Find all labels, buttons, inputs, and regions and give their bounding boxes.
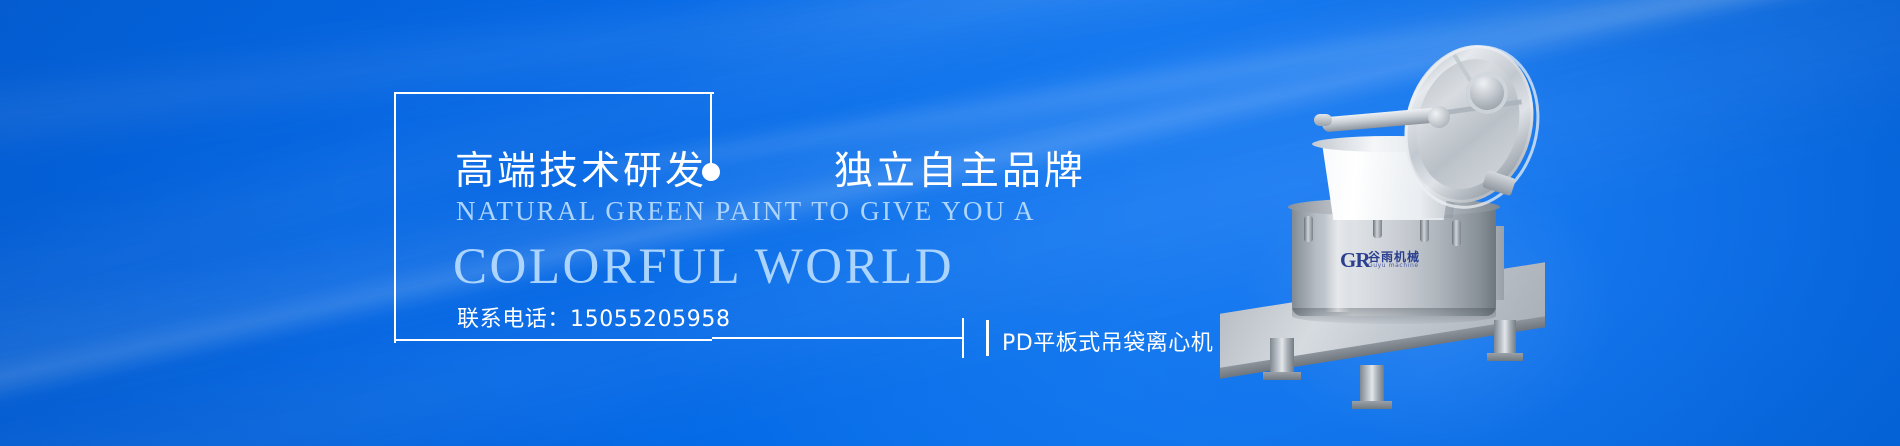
caption-accent-bar — [986, 320, 989, 356]
brand-mark-gr: GR — [1340, 249, 1364, 271]
headline: 高端技术研发 独立自主品牌 — [455, 140, 1086, 196]
machine-handle-grip — [1314, 114, 1332, 126]
caption-leader-rule — [712, 337, 964, 339]
machine-leg — [1494, 320, 1516, 355]
hero-banner: 高端技术研发 独立自主品牌 NATURAL GREEN PAINT TO GIV… — [0, 0, 1900, 446]
contact-phone: 联系电话：15055205958 — [457, 301, 731, 333]
brand-name-en: Guyu machine — [1368, 262, 1419, 269]
product-caption: PD平板式吊袋离心机 — [1002, 325, 1213, 357]
machine-foot-pad — [1352, 401, 1392, 409]
subtitle-english: NATURAL GREEN PAINT TO GIVE YOU A — [456, 196, 1036, 227]
machine-clamp — [1452, 220, 1461, 246]
machine-foot-pad — [1487, 353, 1523, 361]
decorative-frame-bottom-rule — [394, 339, 712, 341]
caption-leader-tick — [962, 318, 964, 358]
machine-foot-pad — [1263, 372, 1301, 380]
machine-drum-underside — [1292, 308, 1496, 324]
machine-clamp — [1304, 216, 1313, 242]
machine-brand-logo: GR 谷雨机械 Guyu machine — [1340, 248, 1424, 272]
headline-left: 高端技术研发 — [455, 140, 707, 196]
machine-handle-pivot — [1428, 106, 1450, 128]
product-image-centrifuge: GR 谷雨机械 Guyu machine — [1230, 20, 1630, 430]
machine-leg — [1270, 338, 1294, 374]
machine-leg — [1360, 365, 1384, 403]
title-english: COLORFUL WORLD — [453, 238, 954, 296]
headline-right: 独立自主品牌 — [834, 140, 1086, 196]
